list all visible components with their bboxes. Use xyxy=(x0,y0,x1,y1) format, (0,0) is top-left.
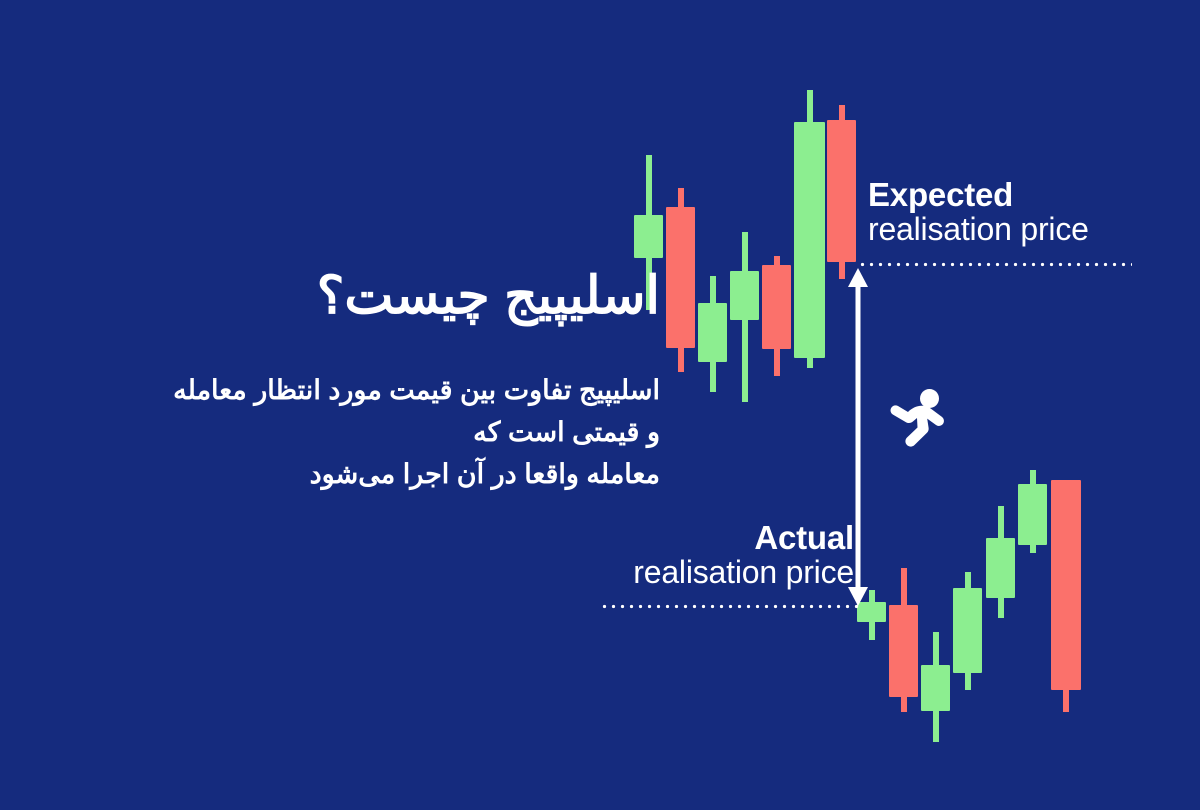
candlestick-upper-cluster-3 xyxy=(730,232,759,402)
candlestick-lower-cluster-5 xyxy=(1018,470,1047,553)
candle-body xyxy=(762,265,791,349)
candle-body xyxy=(634,215,663,258)
candle-body xyxy=(953,588,982,673)
page-title: اسلیپیج چیست؟ xyxy=(0,265,660,328)
candlestick-upper-cluster-4 xyxy=(762,256,791,376)
expected-dotted-line xyxy=(858,262,1132,267)
candle-body xyxy=(986,538,1015,598)
expected-label-light: realisation price xyxy=(868,213,1089,247)
running-person-icon xyxy=(884,385,950,451)
actual-label-strong: Actual xyxy=(592,521,854,556)
candlestick-upper-cluster-1 xyxy=(666,188,695,372)
candlestick-lower-cluster-6 xyxy=(1051,480,1081,712)
text-column: اسلیپیج چیست؟ اسلیپیج تفاوت بین قیمت مور… xyxy=(0,265,660,496)
candlestick-lower-cluster-1 xyxy=(889,568,918,712)
candle-body xyxy=(698,303,727,362)
description-line-1: اسلیپیج تفاوت بین قیمت مورد انتظار معامل… xyxy=(0,370,660,412)
description-line-3: معامله واقعا در آن اجرا می‌شود xyxy=(0,454,660,496)
candlestick-upper-cluster-6 xyxy=(827,105,856,279)
candle-body xyxy=(1018,484,1047,545)
candlestick-upper-cluster-5 xyxy=(794,90,825,368)
expected-price-label: Expected realisation price xyxy=(868,178,1089,247)
candle-body xyxy=(889,605,918,697)
candle-body xyxy=(666,207,695,348)
candle-body xyxy=(794,122,825,358)
candle-body xyxy=(1051,480,1081,690)
candle-body xyxy=(730,271,759,320)
actual-dotted-line xyxy=(600,604,860,609)
description-text: اسلیپیج تفاوت بین قیمت مورد انتظار معامل… xyxy=(0,370,660,496)
description-line-2: و قیمتی است که xyxy=(0,412,660,454)
infographic-canvas: Expected realisation price Actual realis… xyxy=(0,0,1200,810)
candlestick-upper-cluster-2 xyxy=(698,276,727,392)
candle-body xyxy=(827,120,856,262)
actual-price-label: Actual realisation price xyxy=(592,521,854,590)
candle-body xyxy=(921,665,950,711)
candlestick-lower-cluster-2 xyxy=(921,632,950,742)
expected-label-strong: Expected xyxy=(868,178,1089,213)
candlestick-lower-cluster-3 xyxy=(953,572,982,690)
candlestick-lower-cluster-4 xyxy=(986,506,1015,618)
actual-label-light: realisation price xyxy=(592,556,854,590)
